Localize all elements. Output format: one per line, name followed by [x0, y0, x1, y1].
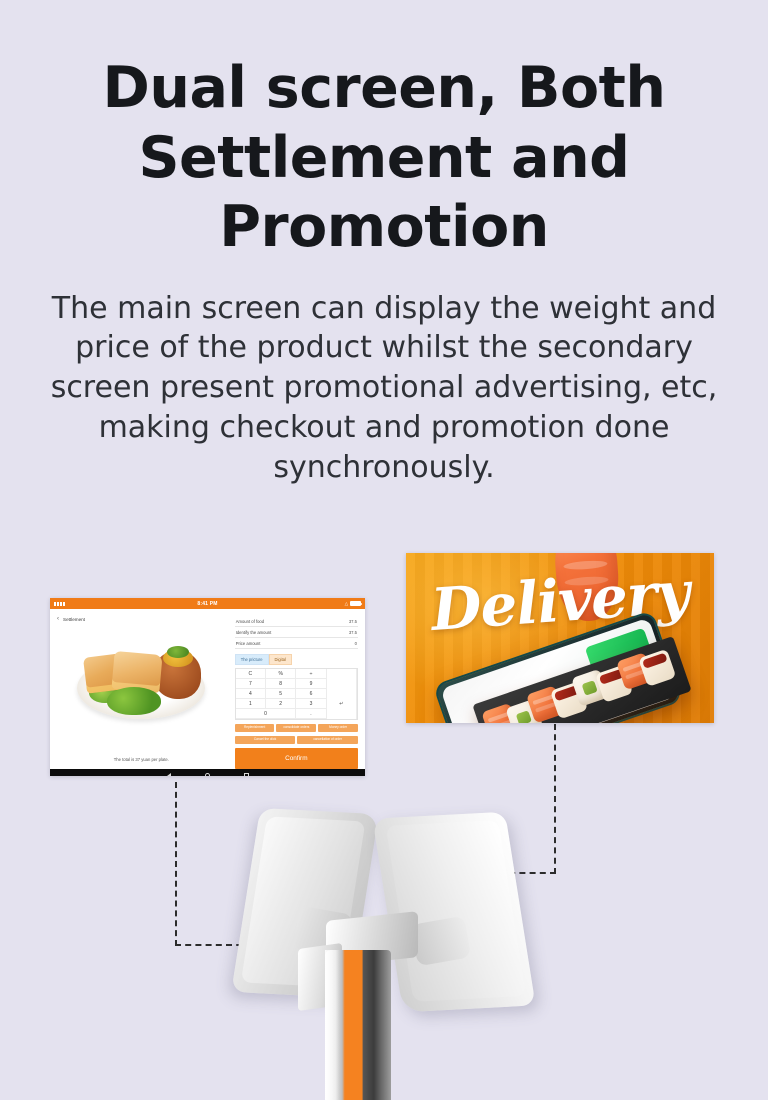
amount-value: 37.5 [349, 630, 357, 635]
keypad-key-8[interactable]: 8 [266, 679, 296, 689]
keypad-key-2[interactable]: 2 [266, 699, 296, 709]
chip-cancel-the-click[interactable]: Cancel the click [235, 736, 296, 745]
tab-digital[interactable]: Digital [269, 654, 292, 665]
keypad-key-0[interactable]: 0 [236, 709, 297, 719]
keypad-key-5[interactable]: 5 [266, 689, 296, 699]
keypad-key-enter[interactable]: ↵ [327, 689, 357, 719]
amount-row: Amount of food 37.5 [235, 616, 358, 627]
tablet-right-pane: Amount of food 37.5 Identify the amount … [233, 609, 365, 769]
status-bar-clock: 8:41 PM [50, 601, 365, 607]
chevron-left-icon: ‹ [57, 616, 59, 622]
keypad-key-4[interactable]: 4 [236, 689, 266, 699]
screen-title: Settlement [63, 617, 85, 622]
keypad-key-decimal[interactable]: . [296, 709, 326, 719]
hero-section: Dual screen, Both Settlement and Promoti… [0, 0, 768, 488]
main-screen-screenshot: 8:41 PM △ ‹ Settlement The tota [50, 598, 365, 776]
input-mode-tabs: The pricture Digital [235, 654, 358, 665]
back-icon[interactable] [167, 773, 171, 776]
food-photo [71, 631, 211, 727]
amount-label: Price amount [236, 641, 261, 646]
tablet-left-pane: ‹ Settlement The total is 37 yuan per pl… [50, 609, 233, 769]
action-chips-row-1: Replenishment consolidate orders Money o… [235, 724, 358, 733]
amount-row: Identify the amount 37.5 [235, 627, 358, 638]
keypad-key-9[interactable]: 9 [296, 679, 326, 689]
keypad-key-clear[interactable]: C [236, 669, 266, 679]
page-title: Dual screen, Both Settlement and Promoti… [0, 54, 768, 263]
keypad-key-1[interactable]: 1 [236, 699, 266, 709]
chip-replenishment[interactable]: Replenishment [235, 724, 275, 733]
tablet-content: ‹ Settlement The total is 37 yuan per pl… [50, 609, 365, 769]
back-button[interactable]: ‹ Settlement [57, 616, 227, 622]
action-chips-row-2: Cancel the click cancellation of order [235, 736, 358, 745]
recents-icon[interactable] [244, 773, 249, 776]
keypad-key-6[interactable]: 6 [296, 689, 326, 699]
food-caption: The total is 37 yuan per plate. [50, 757, 233, 762]
secondary-screen-advertisement: Delivery [406, 553, 714, 723]
battery-icon [350, 601, 361, 606]
amount-label: Identify the amount [236, 630, 272, 635]
dual-screen-pos-device [0, 800, 768, 1100]
chip-consolidate-orders[interactable]: consolidate orders [276, 724, 316, 733]
keypad-key-spacer-top [327, 669, 357, 679]
chip-money-order[interactable]: Money order [318, 724, 358, 733]
tab-the-pricture[interactable]: The pricture [235, 654, 269, 665]
amount-value: 37.5 [349, 619, 357, 624]
stand-column-highlight [325, 950, 339, 1100]
home-icon[interactable] [205, 773, 210, 776]
potato-herbs-shape [167, 646, 189, 658]
page-subtitle: The main screen can display the weight a… [0, 289, 768, 488]
chip-cancellation-of-order[interactable]: cancellation of order [297, 736, 358, 745]
tablet-status-bar: 8:41 PM △ [50, 598, 365, 609]
keypad-key-percent[interactable]: % [266, 669, 296, 679]
keypad-key-divide[interactable]: ÷ [296, 669, 326, 679]
keypad-key-spacer-upper [327, 679, 357, 689]
amount-row: Price amount 0 [235, 638, 358, 649]
keypad-key-3[interactable]: 3 [296, 699, 326, 709]
lettuce-shape-front [107, 687, 161, 715]
numeric-keypad: C % ÷ 7 8 9 4 5 6 ↵ 1 2 3 0 . [235, 668, 358, 720]
amount-label: Amount of food [236, 619, 264, 624]
keypad-key-7[interactable]: 7 [236, 679, 266, 689]
confirm-button[interactable]: Confirm [235, 748, 358, 769]
device-secondary-screen [372, 812, 535, 1013]
amount-value: 0 [355, 641, 357, 646]
android-navigation-bar [50, 769, 365, 776]
